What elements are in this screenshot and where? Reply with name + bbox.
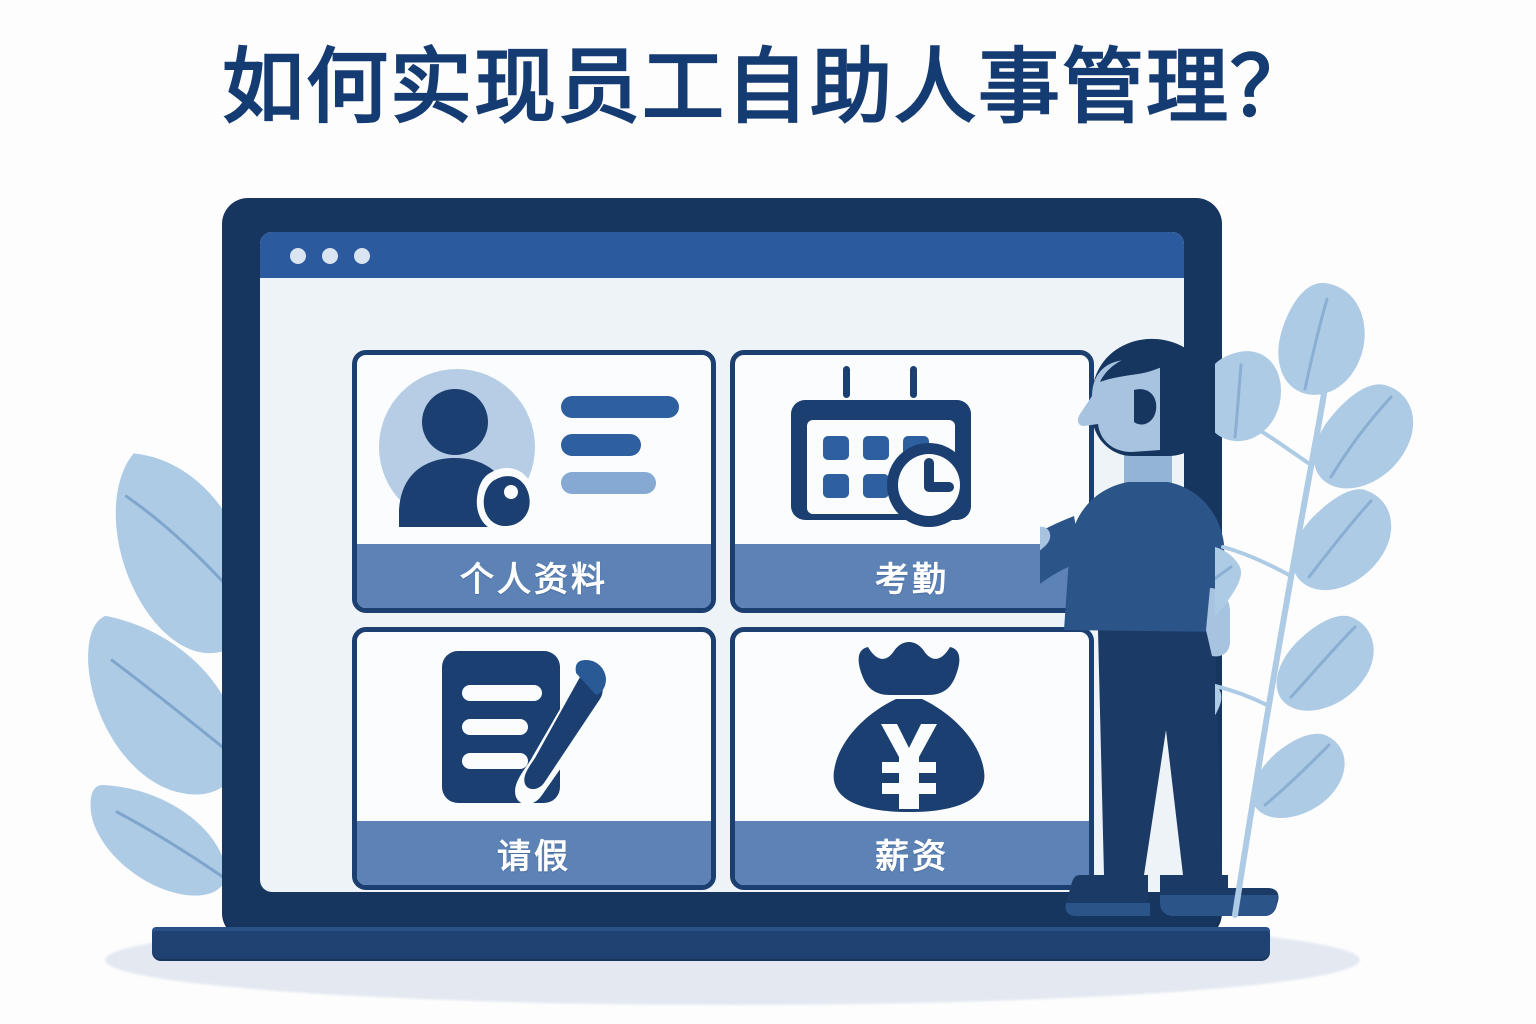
calendar-clock-icon bbox=[735, 355, 1089, 544]
card-attendance-label: 考勤 bbox=[735, 544, 1089, 608]
card-payroll-label: 薪资 bbox=[735, 821, 1089, 885]
window-dot-maximize-icon[interactable] bbox=[354, 248, 370, 264]
window-dot-close-icon[interactable] bbox=[290, 248, 306, 264]
avatar-head bbox=[422, 389, 488, 455]
card-payroll[interactable]: 薪资 bbox=[730, 627, 1094, 890]
laptop-screen: 个人资料 bbox=[260, 232, 1184, 892]
window-dot-minimize-icon[interactable] bbox=[322, 248, 338, 264]
text-line-3 bbox=[561, 472, 656, 494]
leaf-branch-right bbox=[1215, 265, 1525, 930]
card-attendance[interactable]: 考勤 bbox=[730, 350, 1094, 613]
laptop-frame: 个人资料 bbox=[222, 198, 1222, 936]
card-profile[interactable]: 个人资料 bbox=[352, 350, 716, 613]
id-badge bbox=[477, 468, 535, 532]
browser-titlebar bbox=[260, 232, 1184, 278]
text-line-2 bbox=[561, 434, 641, 456]
card-leave[interactable]: 请假 bbox=[352, 627, 716, 890]
document-line-1 bbox=[462, 685, 542, 701]
document-pencil-icon bbox=[357, 632, 711, 821]
user-profile-icon bbox=[357, 355, 711, 544]
card-profile-label: 个人资料 bbox=[357, 544, 711, 608]
illustration-stage: 如何实现员工自助人事管理？ bbox=[0, 0, 1536, 1024]
laptop-base bbox=[152, 931, 1270, 959]
text-line-1 bbox=[561, 396, 679, 418]
calendar-rings bbox=[842, 364, 918, 400]
self-service-card-grid: 个人资料 bbox=[352, 350, 1094, 890]
page-title: 如何实现员工自助人事管理？ bbox=[0, 38, 1536, 138]
document-line-2 bbox=[462, 719, 528, 735]
bag-tie bbox=[859, 642, 960, 695]
money-bag-icon bbox=[735, 632, 1089, 821]
document-line-3 bbox=[462, 753, 528, 769]
clock bbox=[887, 443, 971, 527]
card-leave-label: 请假 bbox=[357, 821, 711, 885]
